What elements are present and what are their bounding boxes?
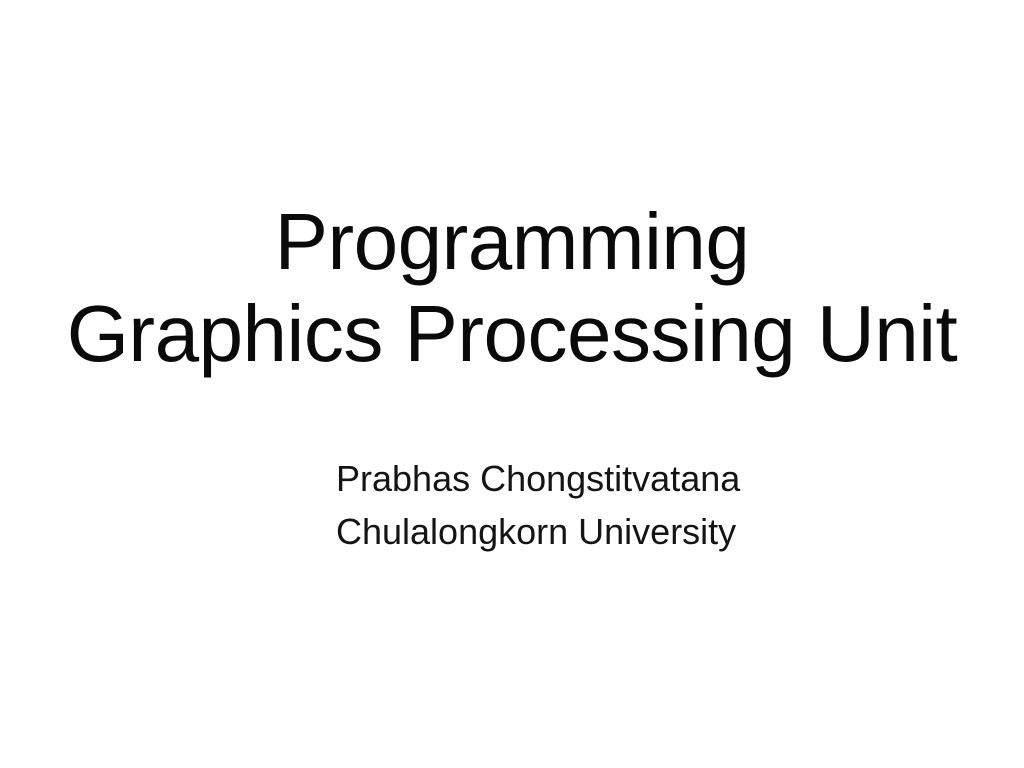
subtitle-author: Prabhas Chongstitvatana	[336, 452, 896, 505]
subtitle-affiliation: Chulalongkorn University	[336, 505, 896, 558]
slide-title: Programming Graphics Processing Unit	[0, 196, 1024, 380]
slide-subtitle: Prabhas Chongstitvatana Chulalongkorn Un…	[336, 452, 896, 558]
title-line-1: Programming	[0, 196, 1024, 288]
title-line-2: Graphics Processing Unit	[0, 288, 1024, 380]
title-slide: Programming Graphics Processing Unit Pra…	[0, 0, 1024, 768]
